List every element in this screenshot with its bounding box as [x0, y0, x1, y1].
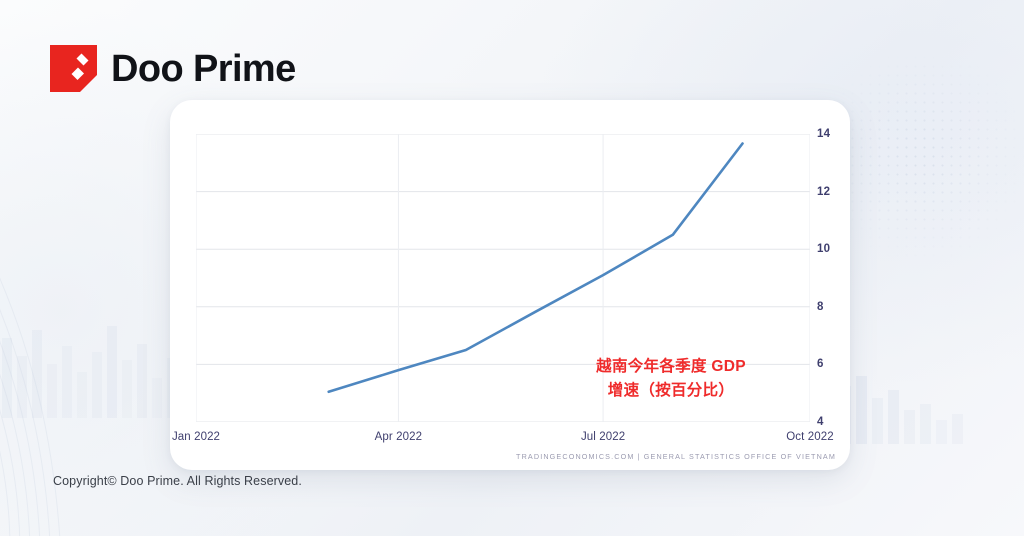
x-tick-label: Jul 2022	[581, 431, 625, 443]
x-tick-label: Jan 2022	[172, 431, 220, 443]
chart-attribution: TRADINGECONOMICS.COM | GENERAL STATISTIC…	[516, 452, 836, 461]
y-tick-label: 10	[817, 243, 830, 255]
slide-canvas: Doo Prime 468101214 Jan 2022Apr 2022Jul …	[0, 0, 1024, 536]
x-tick-label: Oct 2022	[786, 431, 833, 443]
copyright-text: Copyright© Doo Prime. All Rights Reserve…	[53, 474, 302, 488]
y-tick-label: 4	[817, 416, 824, 428]
chart-annotation: 越南今年各季度 GDP 增速（按百分比）	[566, 355, 776, 403]
y-tick-label: 6	[817, 358, 824, 370]
y-tick-label: 14	[817, 128, 830, 140]
chart-card: 468101214 Jan 2022Apr 2022Jul 2022Oct 20…	[170, 100, 850, 470]
x-tick-label: Apr 2022	[375, 431, 422, 443]
brand-logo: Doo Prime	[50, 45, 296, 92]
y-tick-label: 12	[817, 186, 830, 198]
annotation-line-1: 越南今年各季度 GDP	[566, 355, 776, 379]
y-tick-label: 8	[817, 301, 824, 313]
annotation-line-2: 增速（按百分比）	[566, 379, 776, 403]
doo-prime-pen-square-icon	[50, 45, 97, 92]
brand-name: Doo Prime	[111, 50, 296, 88]
